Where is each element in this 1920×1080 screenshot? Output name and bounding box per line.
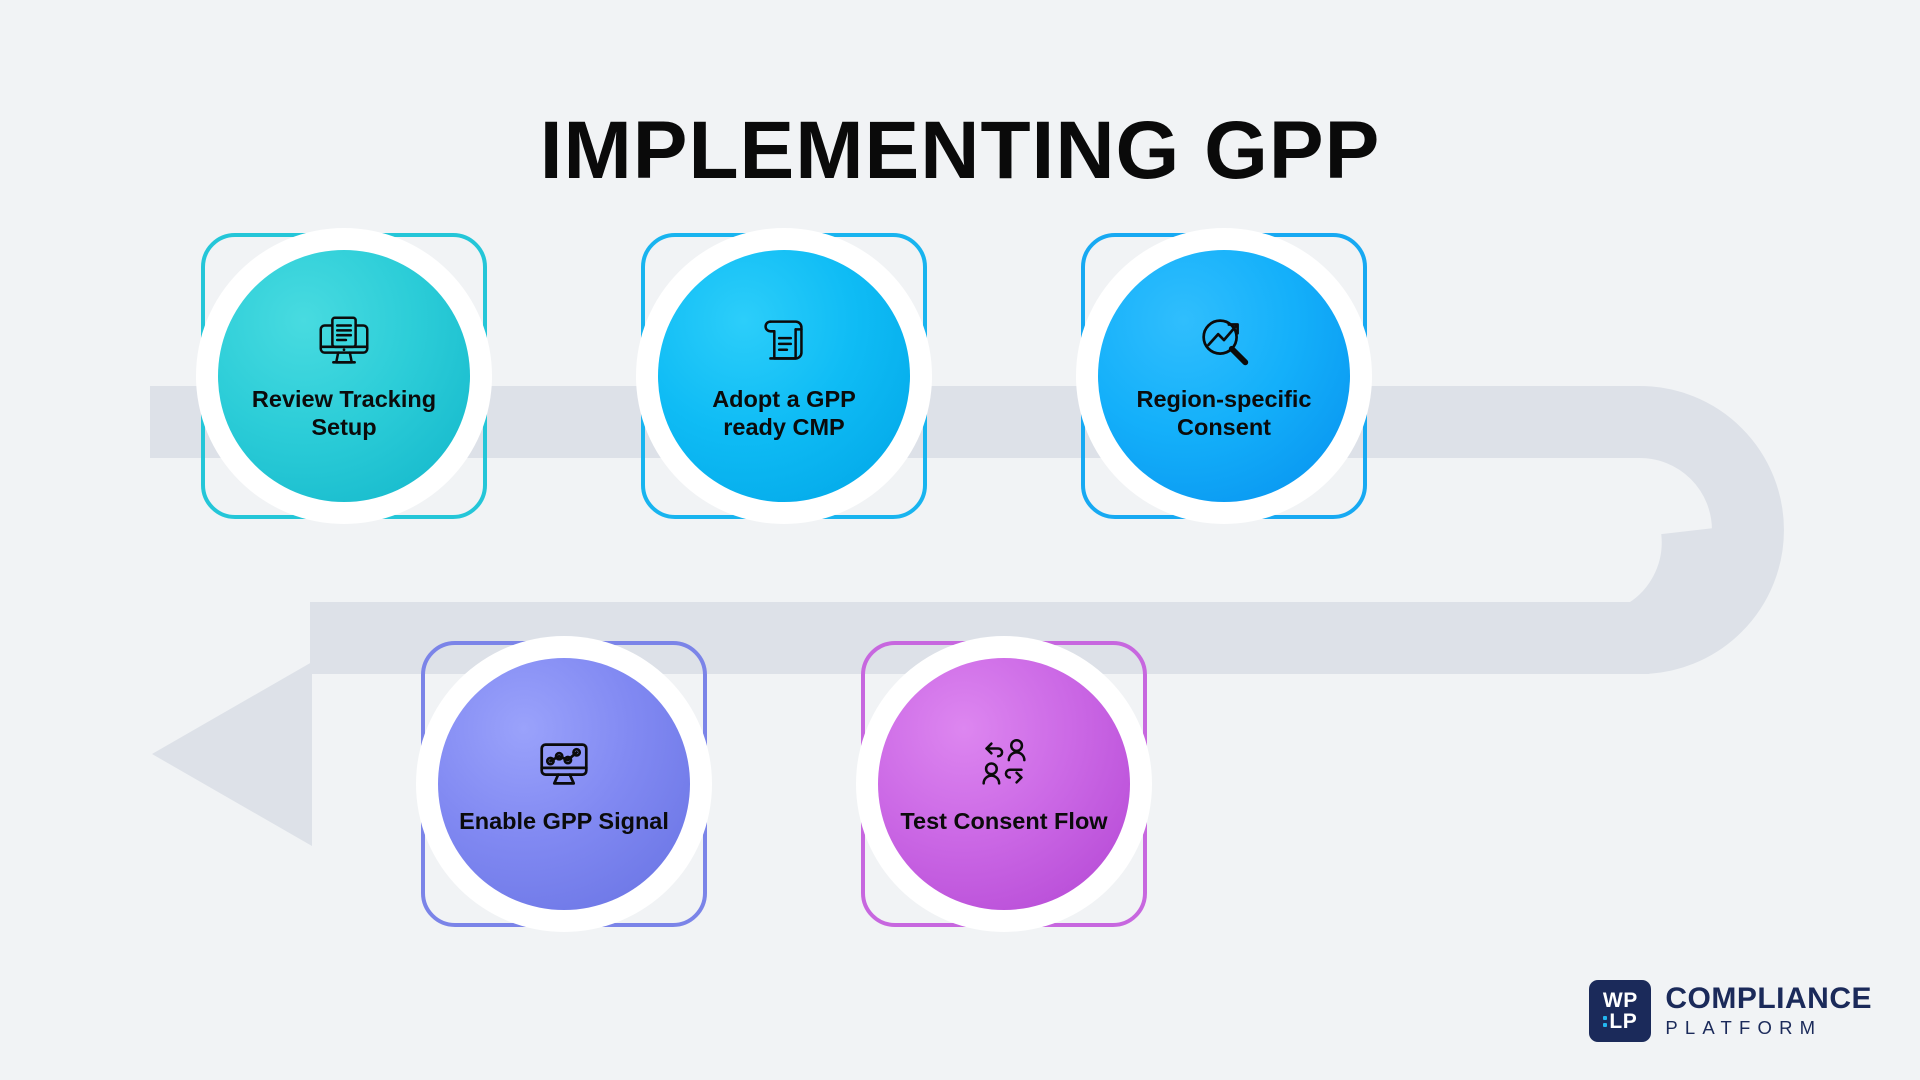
logo-dots-icon [1603,1016,1607,1027]
flow-node-review-tracking-setup[interactable]: Review Tracking Setup [201,233,487,519]
logo-badge-lp-row: LP [1603,1011,1637,1032]
node-label: Review Tracking Setup [238,386,450,441]
node-circle: Enable GPP Signal [438,658,690,910]
flow-node-enable-gpp-signal[interactable]: Enable GPP Signal [421,641,707,927]
page-title: IMPLEMENTING GPP [0,104,1920,198]
node-label: Test Consent Flow [898,808,1110,836]
brand-logo: WP LP COMPLIANCE PLATFORM [1589,980,1872,1042]
node-circle: Review Tracking Setup [218,250,470,502]
flow-node-region-specific-consent[interactable]: Region-specific Consent [1081,233,1367,519]
node-circle: Test Consent Flow [878,658,1130,910]
flow-node-test-consent-flow[interactable]: Test Consent Flow [861,641,1147,927]
logo-subtitle: PLATFORM [1665,1017,1872,1039]
infographic-canvas: IMPLEMENTING GPP [0,0,1920,1080]
logo-badge-wp: WP [1603,990,1638,1011]
node-circle: Region-specific Consent [1098,250,1350,502]
logo-text: COMPLIANCE PLATFORM [1665,983,1872,1040]
node-circle: Adopt a GPP ready CMP [658,250,910,502]
logo-title: COMPLIANCE [1665,983,1872,1015]
monitor-document-icon [313,310,375,372]
user-exchange-icon [973,732,1035,794]
node-label: Adopt a GPP ready CMP [678,386,890,441]
logo-badge: WP LP [1589,980,1651,1042]
flow-node-adopt-gpp-ready-cmp[interactable]: Adopt a GPP ready CMP [641,233,927,519]
scroll-document-icon [753,310,815,372]
node-label: Enable GPP Signal [458,808,670,836]
node-label: Region-specific Consent [1118,386,1330,441]
magnifier-trend-icon [1193,310,1255,372]
monitor-linechart-icon [533,732,595,794]
logo-badge-lp: LP [1609,1011,1637,1032]
